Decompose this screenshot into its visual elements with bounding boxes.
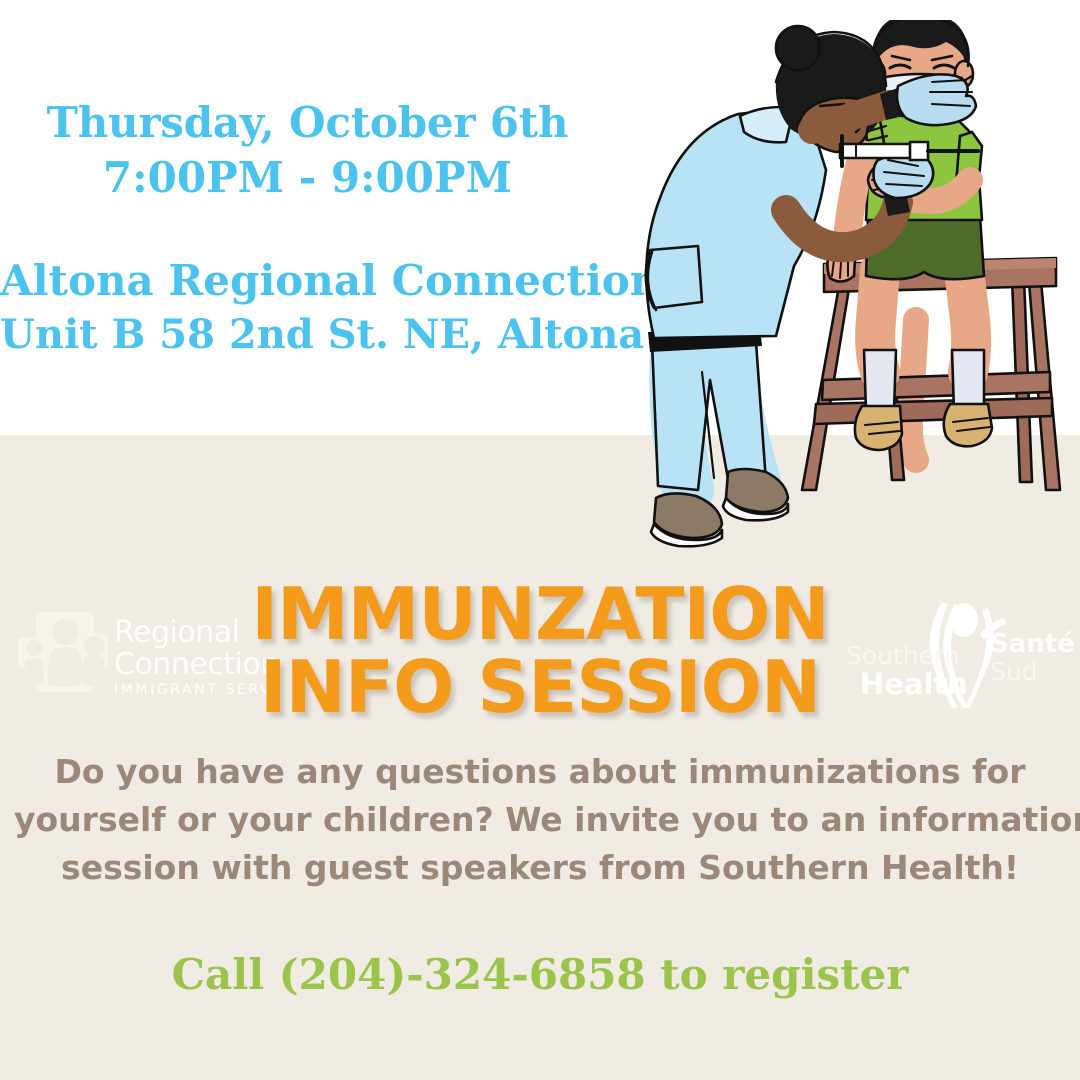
details-spacer <box>0 205 615 253</box>
event-date: Thursday, October 6th <box>0 96 615 151</box>
body-line-1: Do you have any questions about immuniza… <box>14 748 1066 796</box>
body-description: Do you have any questions about immuniza… <box>14 748 1066 893</box>
body-line-3: session with guest speakers from Souther… <box>14 844 1066 892</box>
nurse-vaccinating-child-illustration <box>580 20 1080 550</box>
event-details: Thursday, October 6th 7:00PM - 9:00PM Al… <box>0 96 615 361</box>
event-venue: Altona Regional Connections <box>0 253 615 308</box>
event-address: Unit B 58 2nd St. NE, Altona <box>0 309 615 362</box>
title-line-1: IMMUNZATION <box>0 578 1080 651</box>
poster-canvas: Thursday, October 6th 7:00PM - 9:00PM Al… <box>0 0 1080 1080</box>
body-line-2: yourself or your children? We invite you… <box>14 796 1066 844</box>
event-time: 7:00PM - 9:00PM <box>0 151 615 206</box>
title-line-2: INFO SESSION <box>0 651 1080 724</box>
call-to-action-phone[interactable]: Call (204)-324-6858 to register <box>0 950 1080 1000</box>
page-title: IMMUNZATION INFO SESSION <box>0 578 1080 725</box>
